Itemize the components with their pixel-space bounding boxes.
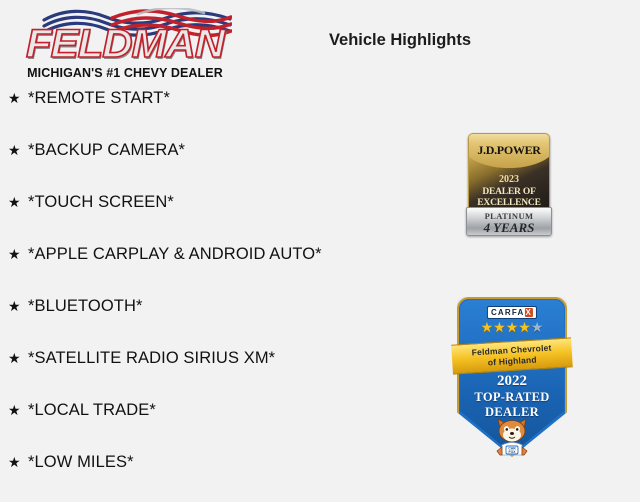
dealer-logo-tagline: MICHIGAN'S #1 CHEVY DEALER	[14, 66, 236, 80]
page-title: Vehicle Highlights	[250, 31, 550, 50]
list-item: ★ *TOUCH SCREEN*	[0, 190, 440, 242]
list-item-label: *BLUETOOTH*	[28, 294, 440, 319]
carfax-ribbon-text: Feldman Chevrolet of Highland	[451, 341, 572, 369]
jdpower-duration-label: 4 YEARS	[467, 220, 551, 236]
star-bullet-icon: ★	[8, 398, 28, 423]
carfax-logo: CARFAX	[487, 306, 537, 319]
star-bullet-icon: ★	[8, 138, 28, 163]
carfax-year-label: 2022	[457, 373, 567, 390]
car-fox-mascot-icon: CAR FOX	[488, 417, 536, 457]
star-icon: ★	[481, 319, 494, 335]
jdpower-plaque: J.D.POWER 2023 DEALER OF EXCELLENCE	[468, 133, 550, 217]
carfax-award-line1: TOP-RATED	[457, 390, 567, 405]
list-item-label: *BACKUP CAMERA*	[28, 138, 440, 163]
jdpower-brand-label: J.D.POWER	[469, 143, 549, 158]
jdpower-award-line1: DEALER OF	[469, 187, 549, 197]
star-bullet-icon: ★	[8, 242, 28, 267]
list-item-label: *APPLE CARPLAY & ANDROID AUTO*	[28, 242, 440, 267]
jdpower-platinum-base: PLATINUM 4 YEARS	[466, 207, 552, 236]
carfax-top-rated-dealer-badge: CARFAX ★★★★★ Feldman Chevrolet of Highla…	[457, 297, 567, 457]
list-item: ★ *APPLE CARPLAY & ANDROID AUTO*	[0, 242, 440, 294]
star-icon: ★	[493, 319, 506, 335]
list-item: ★ *SATELLITE RADIO SIRIUS XM*	[0, 346, 440, 398]
dealer-logo[interactable]: FELDMAN MICHIGAN'S #1 CHEVY DEALER	[14, 6, 236, 82]
jdpower-award-badge: J.D.POWER 2023 DEALER OF EXCELLENCE PLAT…	[468, 133, 548, 234]
list-item-label: *LOCAL TRADE*	[28, 398, 440, 423]
svg-text:FOX: FOX	[509, 450, 517, 454]
jdpower-year-label: 2023	[469, 174, 549, 185]
vehicle-highlights-list: ★ *REMOTE START* ★ *BACKUP CAMERA* ★ *TO…	[0, 86, 440, 502]
star-bullet-icon: ★	[8, 294, 28, 319]
page-header: FELDMAN MICHIGAN'S #1 CHEVY DEALER Vehic…	[0, 0, 640, 86]
dealer-logo-wordmark: FELDMAN	[8, 23, 241, 65]
list-item: ★ *BLUETOOTH*	[0, 294, 440, 346]
list-item: ★ *LOCAL TRADE*	[0, 398, 440, 450]
list-item-label: *LOW MILES*	[28, 450, 440, 475]
list-item-label: *TOUCH SCREEN*	[28, 190, 440, 215]
star-bullet-icon: ★	[8, 450, 28, 475]
star-icon: ★	[531, 319, 544, 335]
list-item-label: *SATELLITE RADIO SIRIUS XM*	[28, 346, 440, 371]
carfax-star-rating: ★★★★★	[457, 319, 567, 335]
list-item: ★ *REMOTE START*	[0, 86, 440, 138]
star-icon: ★	[518, 319, 531, 335]
list-item: ★ *LOW MILES*	[0, 450, 440, 502]
star-bullet-icon: ★	[8, 190, 28, 215]
carfax-logo-main: CARFA	[491, 308, 525, 317]
star-icon: ★	[506, 319, 519, 335]
carfax-logo-accent: X	[525, 308, 534, 317]
star-bullet-icon: ★	[8, 346, 28, 371]
list-item: ★ *BACKUP CAMERA*	[0, 138, 440, 190]
list-item-label: *REMOTE START*	[28, 86, 440, 111]
star-bullet-icon: ★	[8, 86, 28, 111]
